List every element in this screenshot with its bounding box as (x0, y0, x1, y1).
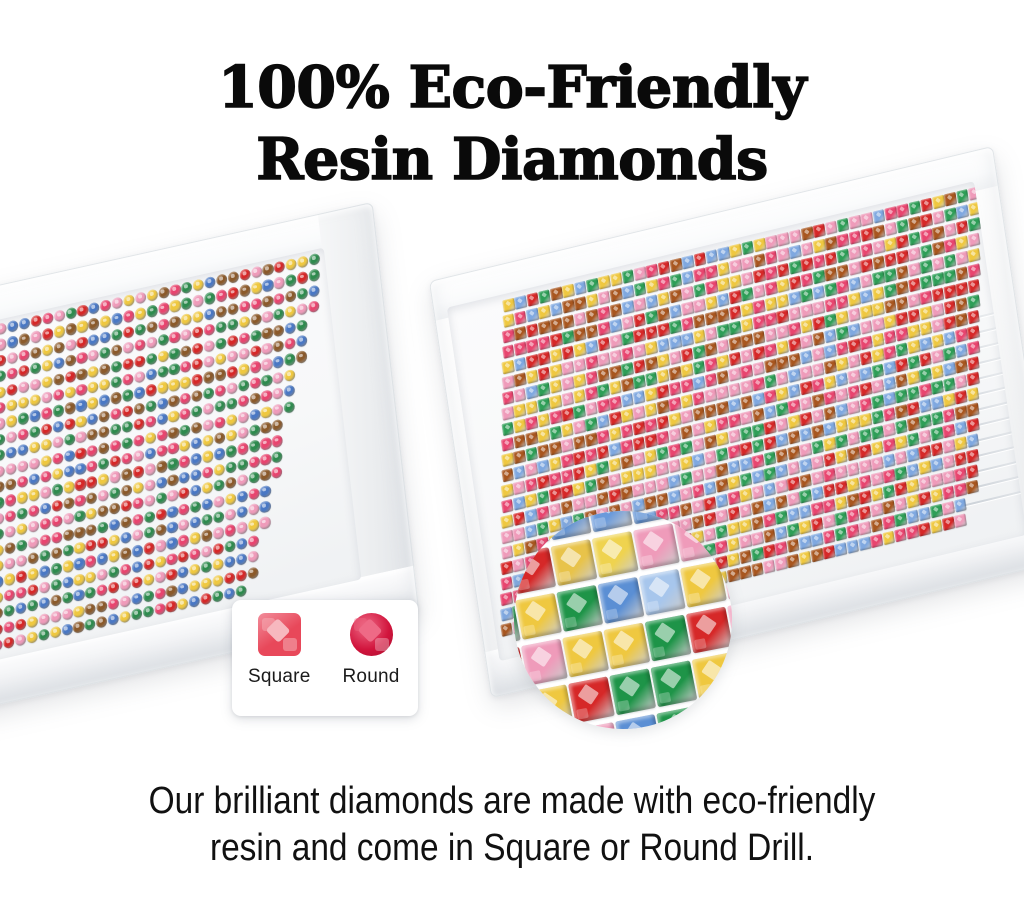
legend-item-square[interactable]: Square (248, 613, 310, 688)
magnified-drill-bead (656, 706, 703, 729)
magnified-drill-bead (592, 531, 639, 578)
magnified-drill-bead (639, 569, 686, 616)
magnified-drill-bead (568, 676, 615, 723)
magnified-drill-bead (574, 722, 621, 729)
magnified-drill-bead (692, 652, 732, 699)
magnified-drill-bead (609, 668, 656, 715)
legend-item-round[interactable]: Round (340, 613, 402, 688)
magnified-drill-bead (527, 684, 574, 729)
magnified-drill-bead (650, 660, 697, 707)
legend-swatch-row: Square Round (232, 613, 418, 688)
magnified-drill-bead (698, 698, 732, 729)
legend-label-round: Round (340, 666, 402, 688)
magnified-drill-bead (521, 639, 568, 686)
caption: Our brilliant diamonds are made with eco… (0, 778, 1024, 872)
magnified-drill-bead (515, 593, 562, 640)
magnified-drill-bead (545, 511, 592, 540)
magnified-drill-bead (586, 511, 633, 532)
magnified-drill-bead (598, 577, 645, 624)
magnified-drill-bead (615, 714, 662, 729)
caption-line-2: resin and come in Square or Round Drill. (61, 825, 962, 872)
headline-line-2: Resin Diamonds (0, 124, 1024, 196)
gem-facet-bottom-right (375, 638, 389, 651)
legend-label-square: Square (248, 666, 310, 688)
magnified-drill-bead (680, 561, 727, 608)
drill-type-legend-card: Square Round (232, 600, 418, 716)
magnified-drill-bead (674, 515, 721, 562)
magnified-drill-bead (627, 511, 674, 524)
round-drill-gem-icon (350, 613, 393, 656)
magnified-drill-bead (514, 547, 556, 594)
square-drill-gem-icon (258, 613, 301, 656)
headline-line-1: 100% Eco-Friendly (0, 52, 1024, 124)
magnified-square-drills-circle (514, 511, 732, 729)
caption-line-1: Our brilliant diamonds are made with eco… (61, 778, 962, 825)
infographic-canvas: 100% Eco-Friendly Resin Diamonds Square (0, 0, 1024, 922)
magnified-drill-bead (514, 511, 550, 548)
magnified-drill-bead (645, 615, 692, 662)
magnified-drill-bead (686, 607, 732, 654)
headline: 100% Eco-Friendly Resin Diamonds (0, 52, 1024, 196)
magnified-drill-bead (633, 523, 680, 570)
gem-facet-bottom-right (283, 638, 297, 651)
magnified-drill-bead (603, 623, 650, 670)
magnified-drill-bead (556, 585, 603, 632)
magnifier-content (514, 511, 732, 729)
magnified-drill-bead (562, 631, 609, 678)
magnified-drill-bead (551, 539, 598, 586)
